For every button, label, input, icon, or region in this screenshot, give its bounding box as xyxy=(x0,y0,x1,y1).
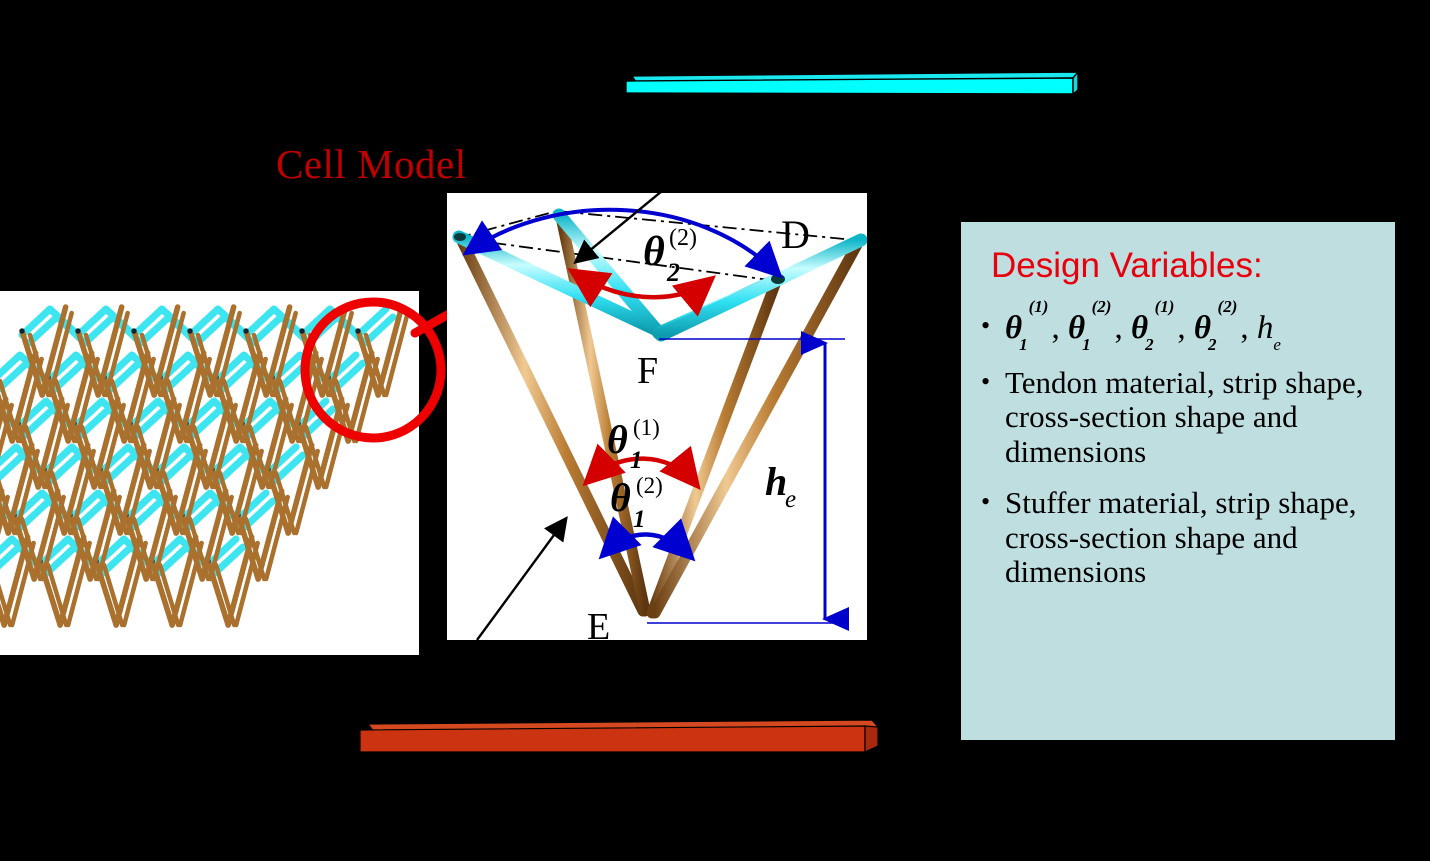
design-variable-symbols: θ1(1), θ1(2), θ2(1), θ2(2), he xyxy=(1005,310,1375,350)
design-variable-tendon: Tendon material, strip shape, cross-sect… xyxy=(1005,366,1375,470)
svg-text:1: 1 xyxy=(630,447,643,474)
magnifier-circle xyxy=(305,302,441,438)
bullet-glyph: • xyxy=(981,366,1005,399)
svg-text:θ: θ xyxy=(610,475,631,520)
design-variable-stuffer: Stuffer material, strip shape, cross-sec… xyxy=(1005,486,1375,590)
list-item: • θ1(1), θ1(2), θ2(1), θ2(2), he xyxy=(981,310,1375,350)
math-separator: , xyxy=(1177,310,1194,346)
svg-text:(2): (2) xyxy=(669,225,697,251)
design-variables-panel: Design Variables: • θ1(1), θ1(2), θ2(1),… xyxy=(961,222,1395,740)
math-symbol-theta: θ2(2) xyxy=(1194,310,1239,350)
bullet-glyph: • xyxy=(981,310,1005,343)
svg-text:θ: θ xyxy=(607,417,628,462)
stuffer-bar xyxy=(626,68,1081,94)
svg-text:h: h xyxy=(765,459,787,504)
cell-model-diagram: D F E θ 2 (2) θ 1 (1) θ 1 (2) h e xyxy=(447,193,867,640)
tendon-bar xyxy=(360,714,882,754)
page-title: Cell Model xyxy=(276,140,467,188)
label-node-e: E xyxy=(587,606,610,640)
svg-text:2: 2 xyxy=(666,258,680,287)
math-symbol-theta: θ1(1) xyxy=(1005,310,1050,350)
label-node-d: D xyxy=(781,212,810,257)
svg-text:(2): (2) xyxy=(636,473,663,498)
math-symbol-he: he xyxy=(1257,310,1281,346)
svg-text:θ: θ xyxy=(643,229,665,275)
svg-text:(1): (1) xyxy=(633,415,660,440)
math-symbol-theta: θ2(1) xyxy=(1131,310,1176,350)
design-variables-heading: Design Variables: xyxy=(991,246,1375,286)
svg-text:1: 1 xyxy=(633,506,646,533)
svg-text:e: e xyxy=(785,486,796,513)
math-separator: , xyxy=(1114,310,1131,346)
math-symbol-theta: θ1(2) xyxy=(1068,310,1113,350)
math-separator: , xyxy=(1051,310,1068,346)
list-item: • Stuffer material, strip shape, cross-s… xyxy=(981,486,1375,590)
math-separator: , xyxy=(1240,310,1257,346)
list-item: • Tendon material, strip shape, cross-se… xyxy=(981,366,1375,470)
label-node-f: F xyxy=(637,350,658,392)
bullet-glyph: • xyxy=(981,486,1005,519)
